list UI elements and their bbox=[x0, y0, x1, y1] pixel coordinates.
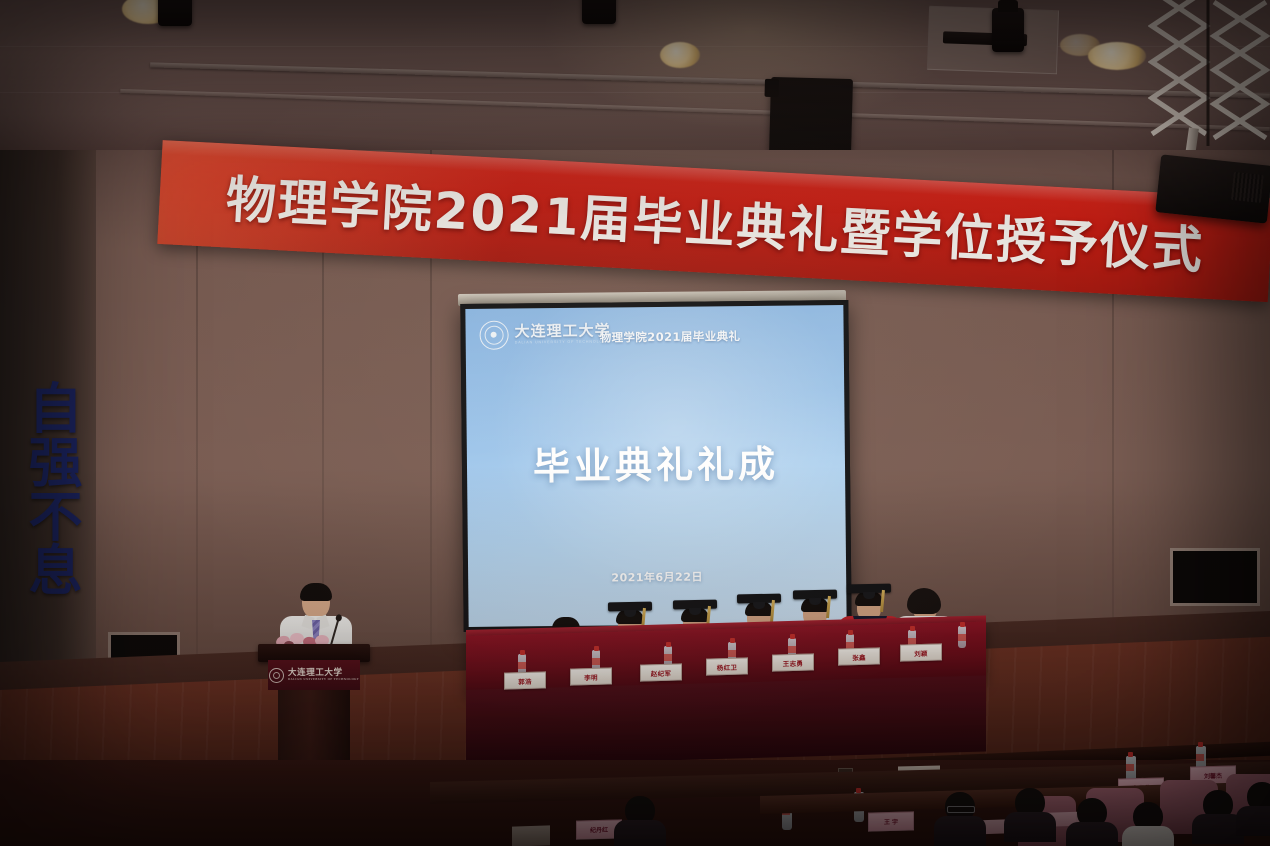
audience-member bbox=[934, 786, 986, 842]
nameplate-text: 赵纪军 bbox=[651, 667, 671, 678]
mortarboard-cap bbox=[793, 590, 837, 600]
podium-front-panel: 大连理工大学 DALIAN UNIVERSITY OF TECHNOLOGY bbox=[268, 660, 360, 690]
stage-front-vent bbox=[512, 825, 550, 846]
ceiling-rail bbox=[120, 89, 1270, 131]
logo-name-cn: 大连理工大学 bbox=[515, 324, 611, 340]
presentation-slide: 大连理工大学 DALIAN UNIVERSITY OF TECHNOLOGY 物… bbox=[465, 305, 846, 627]
mortarboard-cap bbox=[673, 600, 717, 610]
head-table-nameplate: 杨红卫 bbox=[706, 657, 748, 675]
scissor-lift-truss bbox=[1148, 0, 1270, 148]
slide-date: 2021年6月22日 bbox=[468, 567, 846, 587]
slide-subtitle: 物理学院2021届毕业典礼 bbox=[600, 328, 741, 345]
wall-calligraphy: 自强不息 bbox=[6, 380, 78, 596]
university-logo: 大连理工大学 DALIAN UNIVERSITY OF TECHNOLOGY bbox=[479, 319, 610, 349]
logo-name-en: DALIAN UNIVERSITY OF TECHNOLOGY bbox=[515, 341, 611, 346]
projection-screen: 大连理工大学 DALIAN UNIVERSITY OF TECHNOLOGY 物… bbox=[460, 300, 851, 632]
cap-tassel bbox=[770, 600, 774, 622]
stage-spotlight-icon bbox=[582, 0, 616, 24]
nameplate-text: 李明 bbox=[584, 671, 598, 681]
auditorium-photo: 自强不息 大连理工大学 DALIAN UNIVERSITY OF TECHNOL… bbox=[0, 0, 1270, 846]
nameplate-text: 郭浩 bbox=[518, 675, 532, 685]
podium-name-en: DALIAN UNIVERSITY OF TECHNOLOGY bbox=[288, 679, 359, 682]
wall-panel-window bbox=[1170, 548, 1260, 606]
ceiling-projector bbox=[1155, 154, 1270, 223]
audience-name-card-text: 纪丹红 bbox=[590, 825, 608, 834]
speaker-hair bbox=[300, 583, 332, 601]
mortarboard-cap bbox=[737, 594, 781, 604]
head-table-nameplate: 王志勇 bbox=[772, 653, 814, 671]
nameplate-text: 刘颖 bbox=[914, 647, 928, 657]
glasses-icon bbox=[947, 806, 975, 813]
audience-name-card: 王 宇 bbox=[868, 811, 914, 831]
ceiling-speaker bbox=[769, 77, 853, 157]
ceiling-downlight-icon bbox=[1088, 42, 1146, 70]
water-bottle bbox=[958, 626, 966, 648]
nameplate-text: 王志勇 bbox=[783, 657, 803, 668]
podium-name-cn: 大连理工大学 bbox=[288, 668, 343, 678]
university-crest-icon bbox=[479, 321, 508, 350]
head-table-nameplate: 刘颖 bbox=[900, 643, 942, 661]
ceiling bbox=[0, 0, 1270, 152]
university-crest-icon bbox=[269, 668, 284, 683]
ceiling-downlight-icon bbox=[660, 42, 700, 68]
cap-tassel bbox=[826, 596, 830, 618]
audience-name-card-text: 王 宇 bbox=[884, 817, 898, 826]
head-table-nameplate: 赵纪军 bbox=[640, 663, 682, 681]
audience-member bbox=[1122, 796, 1174, 846]
audience-member bbox=[1236, 776, 1270, 832]
head-table-nameplate: 李明 bbox=[570, 667, 612, 685]
nameplate-text: 杨红卫 bbox=[717, 661, 737, 672]
nameplate-text: 张鑫 bbox=[852, 651, 866, 661]
head-table-skirt bbox=[466, 675, 986, 766]
audience-member bbox=[1004, 782, 1056, 838]
hair bbox=[907, 588, 941, 614]
podium-university-name: 大连理工大学 DALIAN UNIVERSITY OF TECHNOLOGY bbox=[288, 669, 359, 682]
mortarboard-cap bbox=[608, 602, 652, 612]
stage-spotlight-icon bbox=[992, 8, 1024, 52]
head-table-nameplate: 张鑫 bbox=[838, 647, 880, 665]
audience-name-card-text: 刘馨杰 bbox=[1204, 771, 1222, 780]
audience-member bbox=[614, 790, 666, 846]
cap-tassel bbox=[880, 590, 884, 612]
head-table-nameplate: 郭浩 bbox=[504, 671, 546, 689]
stage-spotlight-icon bbox=[158, 0, 192, 26]
mortarboard-cap bbox=[847, 584, 891, 594]
slide-title: 毕业典礼礼成 bbox=[467, 433, 846, 491]
audience-member bbox=[1066, 792, 1118, 846]
